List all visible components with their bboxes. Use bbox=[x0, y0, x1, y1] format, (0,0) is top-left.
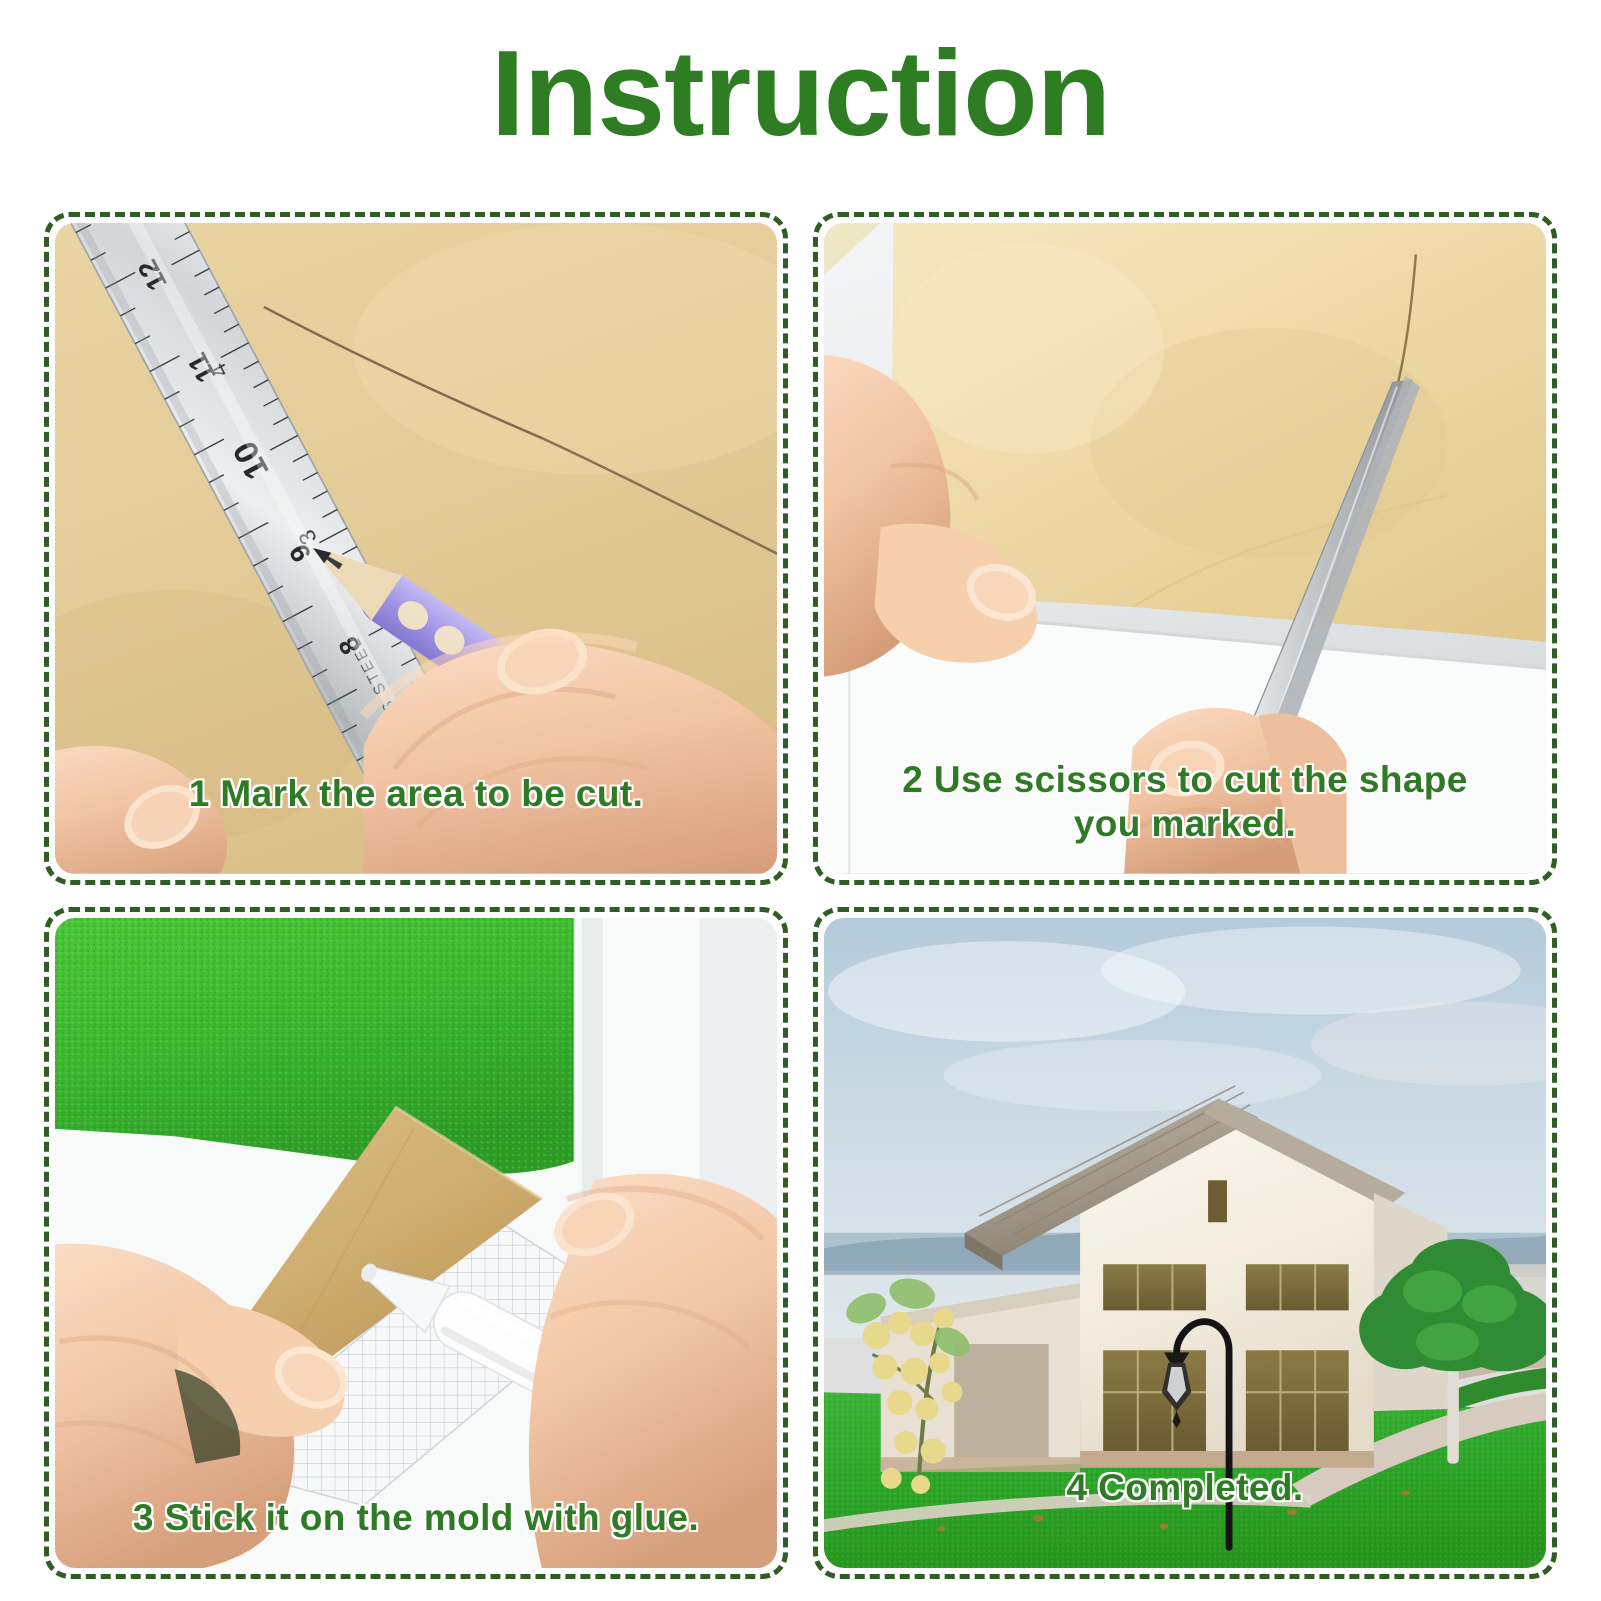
step-3-photo: 3 Stick it on the mold with glue. bbox=[55, 918, 777, 1569]
right-hand-gripping-scissors bbox=[1124, 708, 1346, 874]
page-title: Instruction bbox=[491, 26, 1110, 160]
step-1-photo: 14 13 12 11 10 9 8 7 6 5 bbox=[55, 223, 777, 874]
finished-model-illustration bbox=[824, 918, 1546, 1569]
step-panel-4[interactable]: 4 Completed. bbox=[813, 907, 1557, 1580]
step-panel-2[interactable]: 2 Use scissors to cut the shape you mark… bbox=[813, 212, 1557, 885]
marking-scene-illustration: 14 13 12 11 10 9 8 7 6 5 bbox=[55, 223, 777, 874]
steps-grid: 14 13 12 11 10 9 8 7 6 5 bbox=[44, 212, 1557, 1579]
cutting-scene-illustration bbox=[824, 223, 1546, 874]
page-title-bar: Instruction bbox=[0, 26, 1601, 160]
step-4-photo: 4 Completed. bbox=[824, 918, 1546, 1569]
instruction-infographic: Instruction bbox=[0, 0, 1601, 1601]
gluing-scene-illustration bbox=[55, 918, 777, 1569]
step-panel-1[interactable]: 14 13 12 11 10 9 8 7 6 5 bbox=[44, 212, 788, 885]
step-panel-3[interactable]: 3 Stick it on the mold with glue. bbox=[44, 907, 788, 1580]
right-hand-holding-glue bbox=[529, 1173, 777, 1568]
step-2-photo: 2 Use scissors to cut the shape you mark… bbox=[824, 223, 1546, 874]
